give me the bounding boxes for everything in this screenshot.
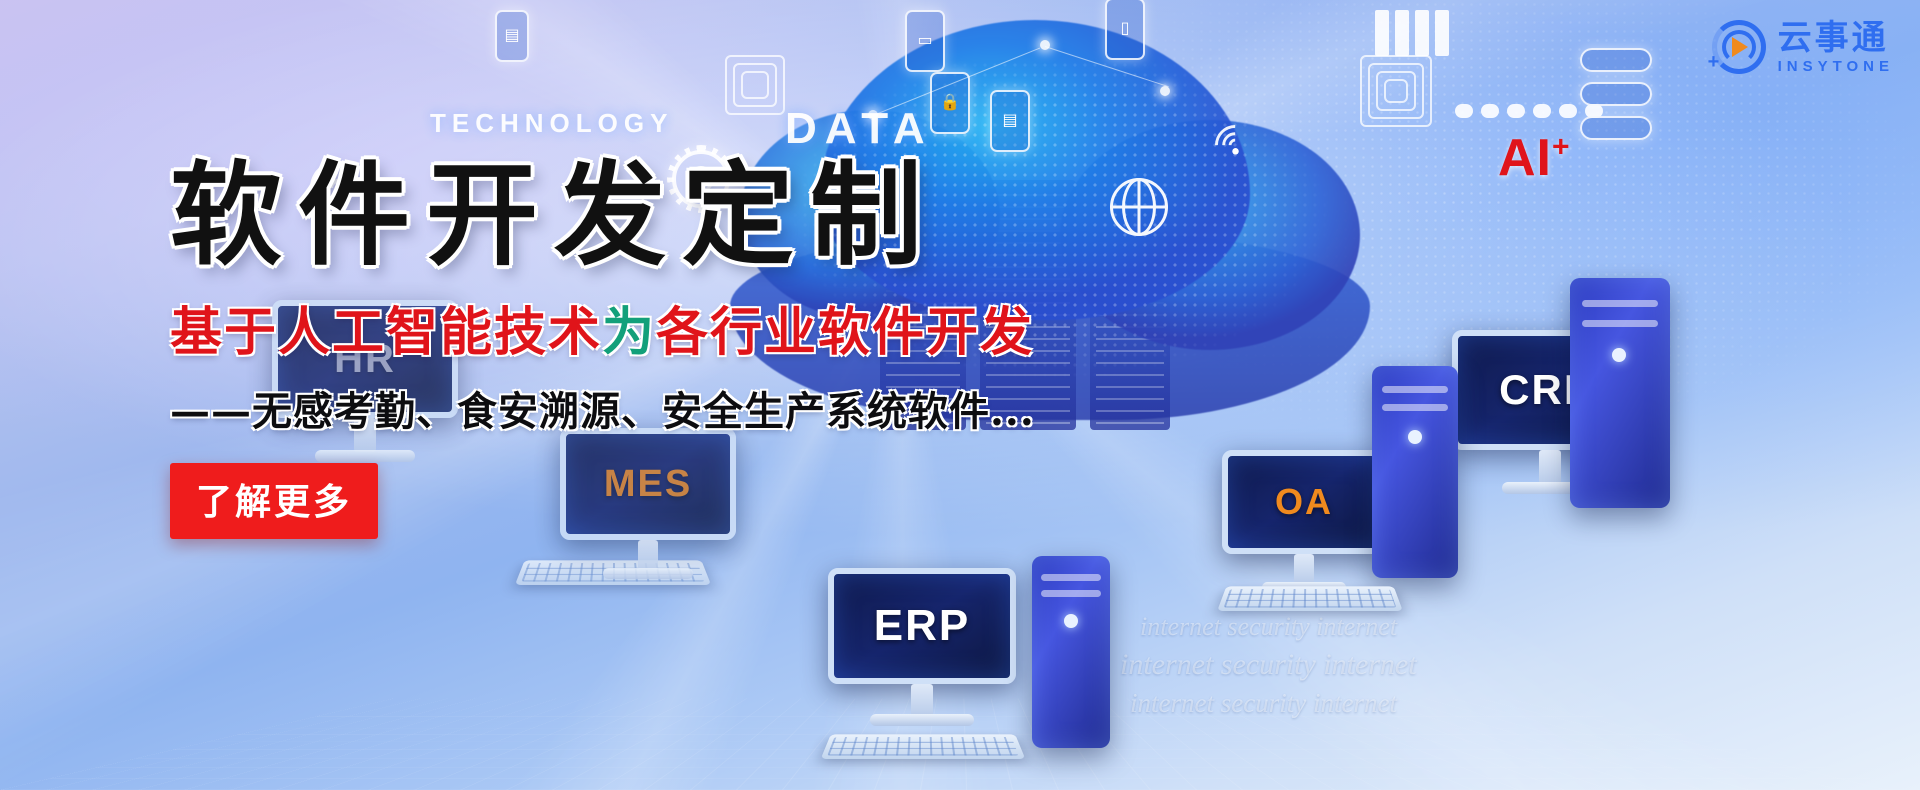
circle-play-plus-icon: + [1712, 20, 1766, 74]
circuit-chip-icon [1580, 48, 1652, 72]
decor-word-ai: AI+ [1498, 128, 1571, 188]
hero-subtitle-part2: 各行业软件开发 [656, 302, 1034, 363]
monitor-erp: ERP [828, 568, 1016, 684]
hero-copy-block: 软件开发定制 基于人工智能技术为各行业软件开发 ——无感考勤、食安溯源、安全生产… [170, 160, 1170, 539]
decor-word-technology: TECHNOLOGY [430, 108, 673, 139]
document-chip-icon: ▤ [990, 90, 1030, 152]
watermark-text: internet security internet [1130, 688, 1397, 719]
keyboard [821, 734, 1026, 759]
hero-subtitle-highlight: 为 [602, 302, 656, 363]
keyboard [1217, 586, 1403, 611]
network-node-icon [1160, 86, 1170, 96]
decor-ai-text: AI [1498, 129, 1552, 187]
decor-word-data: DATA [785, 104, 933, 154]
nested-square-icon [1360, 55, 1432, 127]
lock-chip-icon: 🔒 [930, 72, 970, 134]
brand-name-en: INSYTONE [1778, 59, 1894, 74]
promo-banner: ▭ ▤ 🔒 ▯ ▤ internet security internet int… [0, 0, 1920, 790]
learn-more-button[interactable]: 了解更多 [170, 463, 378, 539]
bar-indicator-group [1375, 10, 1449, 56]
pc-tower [1372, 366, 1458, 578]
brand-logo-wordmark: 云事通 INSYTONE [1778, 21, 1894, 74]
document-chip-icon: ▤ [495, 10, 529, 62]
monitor-oa: OA [1222, 450, 1386, 554]
hero-tagline: ——无感考勤、食安溯源、安全生产系统软件... [170, 379, 1170, 437]
circuit-chip-icon [1580, 116, 1652, 140]
page-title: 软件开发定制 [170, 160, 1170, 272]
nested-square-icon [725, 55, 785, 115]
bar-indicator-group [1455, 104, 1603, 118]
brand-logo[interactable]: + 云事通 INSYTONE [1712, 20, 1894, 74]
pc-tower [1032, 556, 1110, 748]
hero-subtitle-part1: 基于人工智能技术 [170, 302, 602, 363]
device-label-erp: ERP [874, 601, 970, 651]
mobile-chip-icon: ▭ [905, 10, 945, 72]
hero-subtitle: 基于人工智能技术为各行业软件开发 [170, 290, 1170, 365]
device-label-oa: OA [1275, 481, 1333, 523]
pc-tower [1570, 278, 1670, 508]
brand-name-cn: 云事通 [1778, 21, 1894, 55]
mobile-chip-icon: ▯ [1105, 0, 1145, 60]
decor-ai-superscript: + [1552, 131, 1571, 164]
watermark-text: internet security internet [1120, 648, 1417, 682]
circuit-chip-icon [1580, 82, 1652, 106]
watermark-text: internet security internet [1140, 612, 1397, 642]
